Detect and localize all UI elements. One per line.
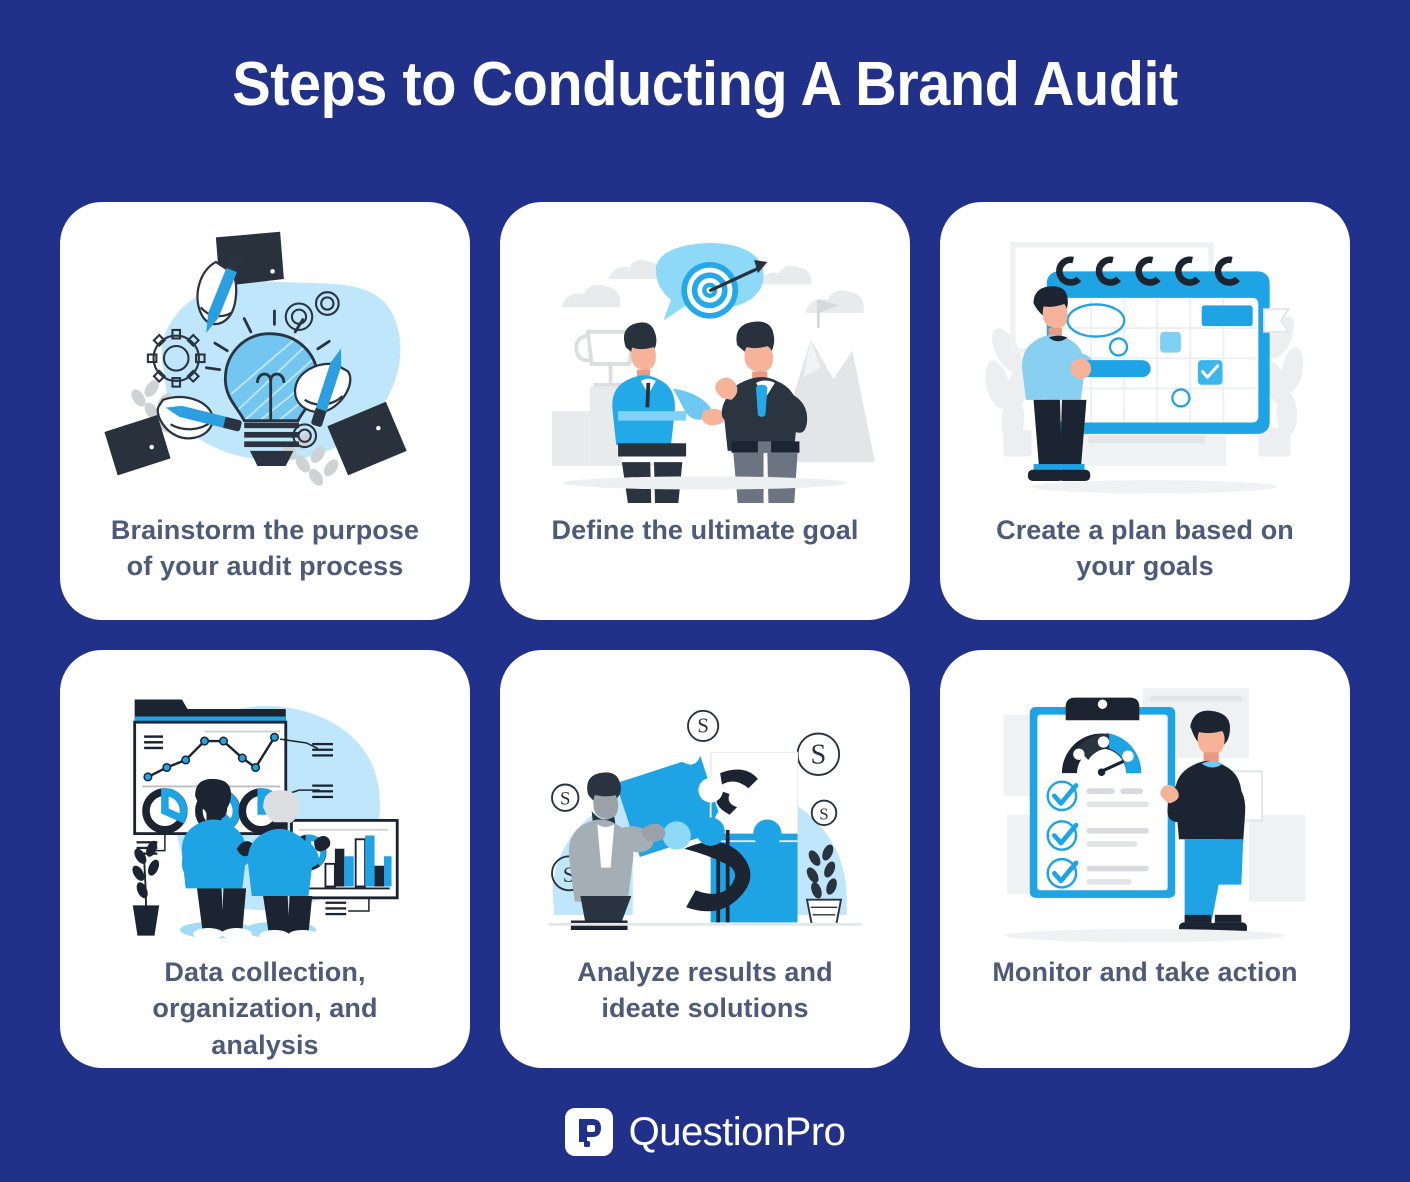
two-people-dashboard-charts-icon bbox=[85, 670, 445, 950]
person-clipboard-checklist-icon bbox=[965, 670, 1325, 950]
brand-name: QuestionPro bbox=[629, 1110, 846, 1155]
svg-text:S: S bbox=[697, 715, 709, 738]
brand-footer: QuestionPro bbox=[0, 1108, 1410, 1156]
svg-text:S: S bbox=[819, 804, 828, 823]
step-card-5[interactable]: S S S S S bbox=[500, 650, 910, 1068]
hands-drawing-lightbulb-icon bbox=[85, 218, 445, 508]
two-people-target-speech-bubble-icon bbox=[525, 218, 885, 508]
step-caption: Brainstorm the purpose of your audit pro… bbox=[67, 508, 463, 585]
step-card-3[interactable]: Create a plan based on your goals bbox=[940, 202, 1350, 620]
step-card-2[interactable]: Define the ultimate goal bbox=[500, 202, 910, 620]
step-card-4[interactable]: Data collection, organization, and analy… bbox=[60, 650, 470, 1068]
svg-text:S: S bbox=[560, 788, 571, 809]
step-caption: Analyze results and ideate solutions bbox=[507, 950, 903, 1027]
questionpro-logo-icon bbox=[565, 1108, 613, 1156]
step-caption: Monitor and take action bbox=[964, 950, 1325, 990]
person-dollar-puzzle-icon: S S S S S bbox=[525, 670, 885, 950]
page-title: Steps to Conducting A Brand Audit bbox=[49, 0, 1360, 117]
svg-text:S: S bbox=[810, 740, 826, 771]
step-caption: Define the ultimate goal bbox=[524, 508, 887, 548]
step-caption: Create a plan based on your goals bbox=[947, 508, 1343, 585]
step-card-1[interactable]: Brainstorm the purpose of your audit pro… bbox=[60, 202, 470, 620]
person-with-calendar-icon bbox=[965, 218, 1325, 508]
step-caption: Data collection, organization, and analy… bbox=[67, 950, 463, 1063]
infographic-page: Steps to Conducting A Brand Audit bbox=[0, 0, 1410, 1182]
step-card-6[interactable]: Monitor and take action bbox=[940, 650, 1350, 1068]
steps-grid: Brainstorm the purpose of your audit pro… bbox=[60, 202, 1350, 1068]
